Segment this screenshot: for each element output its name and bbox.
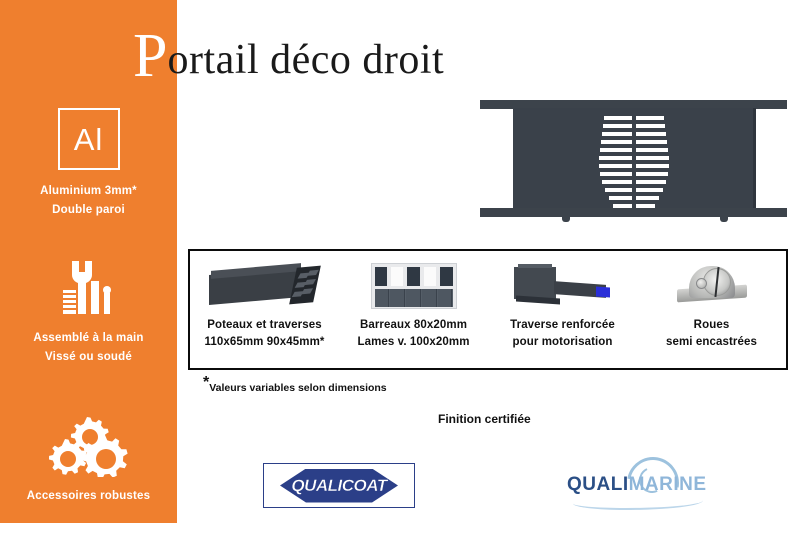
aluminium-al-box-icon: Al <box>58 108 120 170</box>
product-specs-panel: Poteaux et traverses 110x65mm 90x45mm* B… <box>188 249 788 370</box>
product-cell-reinforced-rail: Traverse renforcée pour motorisation <box>488 251 637 368</box>
gate-photo <box>480 100 787 220</box>
qualimarine-wordmark-part1: QUALI <box>567 474 629 495</box>
post-profile-photo <box>190 257 339 315</box>
product-rail-line2: pour motorisation <box>512 334 612 351</box>
sidebar-feature-accessories: Accessoires robustes <box>0 413 177 506</box>
sidebar-feature-assembly-line1: Assemblé à la main <box>0 329 177 348</box>
gears-icon <box>0 413 177 479</box>
product-rail-line1: Traverse renforcée <box>510 317 615 334</box>
qualicoat-logo: QUALICOAT <box>263 463 415 508</box>
slat-swatch-photo <box>339 257 488 315</box>
sidebar-feature-assembly-line2: Vissé ou soudé <box>0 348 177 367</box>
page-title: P ortail déco droit <box>133 22 444 84</box>
qualimarine-wordmark-part2: MARINE <box>629 474 707 495</box>
slide-page: Al Aluminium 3mm* Double paroi <box>0 0 800 534</box>
sidebar-feature-assembly: Assemblé à la main Vissé ou soudé <box>0 255 177 367</box>
product-bars-line2: Lames v. 100x20mm <box>357 334 469 351</box>
page-title-initial: P <box>133 25 167 87</box>
gate-bottom-rail <box>480 208 787 217</box>
wheel-bearing-photo <box>637 257 786 315</box>
gate-panel <box>513 108 756 208</box>
gate-slat-pattern <box>598 116 670 208</box>
sidebar-feature-aluminium: Al Aluminium 3mm* Double paroi <box>0 108 177 220</box>
qualimarine-logo: QUALIMARINE <box>567 470 717 502</box>
product-cell-posts: Poteaux et traverses 110x65mm 90x45mm* <box>190 251 339 368</box>
product-posts-line2: 110x65mm 90x45mm* <box>205 334 325 351</box>
product-posts-line1: Poteaux et traverses <box>207 317 322 334</box>
product-wheels-line2: semi encastrées <box>666 334 757 351</box>
gate-foot <box>720 217 728 222</box>
sidebar-feature-aluminium-line1: Aluminium 3mm* <box>0 182 177 201</box>
qualimarine-wave-icon <box>573 494 703 510</box>
product-cell-wheels: Roues semi encastrées <box>637 251 786 368</box>
sidebar-feature-aluminium-line2: Double paroi <box>0 201 177 220</box>
al-badge-text: Al <box>74 124 104 155</box>
qualicoat-wordmark: QUALICOAT <box>291 476 386 496</box>
wrench-tools-icon <box>0 255 177 321</box>
page-title-rest: ortail déco droit <box>167 36 444 84</box>
product-cell-bars: Barreaux 80x20mm Lames v. 100x20mm <box>339 251 488 368</box>
qualimarine-wordmark: QUALIMARINE <box>567 474 707 496</box>
product-wheels-line1: Roues <box>694 317 730 334</box>
product-bars-line1: Barreaux 80x20mm <box>360 317 467 334</box>
footnote: *Valeurs variables selon dimensions <box>203 378 387 396</box>
gate-foot <box>562 217 570 222</box>
finition-label: Finition certifiée <box>438 412 531 426</box>
sidebar-feature-accessories-line1: Accessoires robustes <box>0 487 177 506</box>
footnote-text: Valeurs variables selon dimensions <box>209 382 386 394</box>
reinforced-rail-photo <box>488 257 637 315</box>
